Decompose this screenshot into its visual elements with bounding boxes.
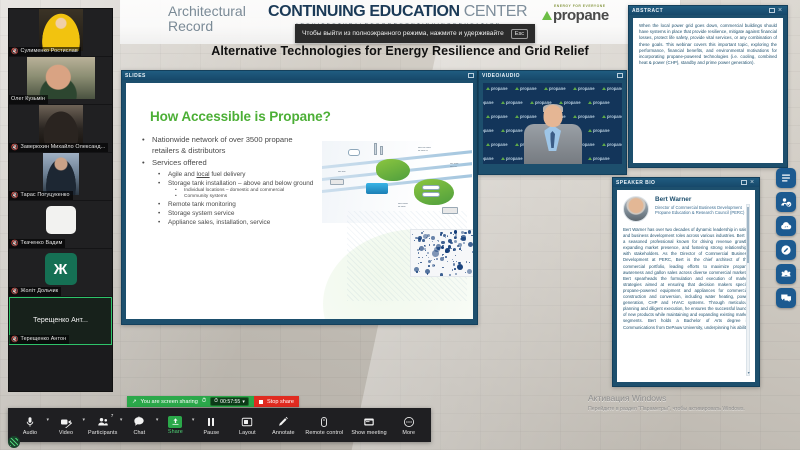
- camera-off-icon: [60, 415, 72, 429]
- map-dot: [422, 239, 425, 242]
- video-audio-window[interactable]: VIDEO/AUDIO propanepropanepropanepropane…: [478, 70, 627, 175]
- map-dot: [436, 258, 438, 260]
- maximize-icon[interactable]: [769, 8, 775, 13]
- backdrop-watermark: propane: [544, 86, 566, 91]
- map-dot: [448, 245, 451, 248]
- microphone-muted-icon: 🔇: [11, 145, 18, 151]
- map-dot: [460, 247, 461, 248]
- participants-icon: [97, 415, 109, 429]
- share-status-group: ↗ You are screen sharing ⏱ ⏱ 00:57:55 ▾: [127, 396, 254, 407]
- map-dot: [461, 231, 464, 234]
- participant-name-bar: 🔇Ткаченко Вадим: [9, 239, 65, 248]
- ellipsis-icon: [403, 415, 415, 429]
- participant-filmstrip[interactable]: 🔇Сулименко РостиславОлег Кузьмін🔇Заверюх…: [8, 8, 113, 392]
- map-dot: [464, 232, 467, 235]
- map-dot: [467, 269, 472, 274]
- participant-video: [39, 105, 83, 147]
- slide-bullet-text: Services offered: [152, 158, 207, 167]
- participant-video: [27, 57, 95, 99]
- map-dot: [431, 236, 435, 240]
- microphone-icon: [24, 415, 36, 429]
- backdrop-watermark: propane: [483, 100, 494, 105]
- meeting-control-more[interactable]: More: [391, 408, 427, 442]
- clock-icon: ⏱: [202, 398, 206, 405]
- abstract-window-title: ABSTRACT: [632, 8, 663, 14]
- map-dot: [442, 267, 444, 269]
- map-dot: [460, 238, 462, 240]
- map-dot: [418, 263, 419, 264]
- maximize-icon[interactable]: [741, 180, 747, 185]
- slide-bullet: •Storage tank installation – above and b…: [138, 179, 316, 188]
- activation-subtitle: Перейдите в раздел "Параметры", чтобы ак…: [588, 405, 793, 413]
- control-label: Annotate: [272, 430, 294, 436]
- meeting-control-participants[interactable]: Participants7▾: [84, 408, 121, 442]
- backdrop-watermark: propane: [486, 86, 508, 91]
- map-dot: [441, 241, 444, 244]
- map-dot: [432, 250, 439, 257]
- control-label: Audio: [23, 430, 37, 436]
- backdrop-watermark: propane: [602, 114, 622, 119]
- slide-bullet-text: Nationwide network of over 3500 propane …: [152, 135, 293, 155]
- participant-tile[interactable]: 🔇Заверюхин Михайло Олександ...: [9, 105, 112, 153]
- bio-window-title: SPEAKER BIO: [616, 180, 655, 186]
- video-window-title: VIDEO/AUDIO: [482, 73, 520, 79]
- participant-video: [39, 9, 83, 51]
- participant-name: Ткаченко Вадим: [20, 240, 62, 247]
- speaker-role: Director of Commercial Business Developm…: [655, 205, 744, 216]
- page-title: Alternative Technologies for Energy Resi…: [120, 44, 680, 58]
- abstract-body: When the local power grid goes down, com…: [633, 18, 783, 163]
- backdrop-watermark: propane: [602, 142, 622, 147]
- slide-heading: How Accessible is Propane?: [150, 109, 331, 124]
- sponsor-name: propane: [553, 7, 609, 24]
- map-dot: [465, 272, 466, 273]
- abstract-window[interactable]: ABSTRACT × When the local power grid goe…: [628, 5, 788, 168]
- slides-window-titlebar[interactable]: SLIDES: [122, 71, 477, 80]
- control-label: Layout: [239, 430, 256, 436]
- map-dot: [473, 237, 474, 238]
- close-icon[interactable]: ×: [778, 8, 784, 13]
- scroll-down-arrow[interactable]: ▼: [747, 371, 749, 375]
- map-dot: [466, 261, 467, 262]
- abstract-window-titlebar[interactable]: ABSTRACT ×: [629, 6, 787, 15]
- map-dot: [434, 259, 435, 260]
- backdrop-watermark: propane: [486, 114, 508, 119]
- control-label: More: [402, 430, 415, 436]
- map-dot: [420, 262, 422, 264]
- map-dot: [416, 271, 418, 273]
- map-dot: [447, 236, 448, 237]
- participant-tile[interactable]: 🔇Тарас Погуцукенко: [9, 153, 112, 201]
- participant-tile[interactable]: 🔇Сулименко Ростислав: [9, 9, 112, 57]
- map-dot: [457, 264, 463, 270]
- map-dot: [431, 260, 432, 261]
- pencil-icon: [277, 415, 289, 429]
- participant-name-bar: 🔇Тарас Погуцукенко: [9, 191, 73, 200]
- slide-bullet-list: •Nationwide network of over 3500 propane…: [138, 135, 316, 227]
- screen-share-indicator-dot[interactable]: [8, 436, 20, 448]
- control-label: Show meeting: [351, 430, 386, 436]
- speaker-figure: [522, 105, 584, 164]
- map-dot: [461, 250, 462, 251]
- slide-bullet: •Services offered: [138, 158, 316, 169]
- meeting-control-pause[interactable]: Pause: [193, 408, 229, 442]
- participant-video: [43, 153, 79, 195]
- slide-bullet-text: Appliance sales, installation, service: [168, 219, 270, 226]
- esc-key-hint: Esc: [511, 29, 528, 39]
- speaker-bio-text: Bert Warner has over two decades of dyna…: [623, 227, 749, 331]
- propane-sponsor-logo: ENERGY FOR EVERYONE propane: [542, 4, 609, 24]
- bio-header: Bert Warner Director of Commercial Busin…: [623, 196, 749, 222]
- backdrop-watermark: propane: [573, 86, 595, 91]
- bullet-icon: •: [142, 135, 145, 146]
- slide-bullet-text: Storage system service: [168, 210, 234, 217]
- slides-window-title: SLIDES: [125, 73, 146, 79]
- map-dot: [441, 246, 444, 249]
- participant-name: Сулименко Ростислав: [20, 48, 77, 55]
- map-dot: [427, 234, 430, 237]
- map-dot: [454, 240, 457, 243]
- map-dot: [472, 251, 473, 253]
- map-dot: [455, 255, 456, 256]
- map-dot: [422, 257, 423, 258]
- webinar-tool-rail[interactable]: [776, 168, 796, 308]
- video-window-titlebar[interactable]: VIDEO/AUDIO: [479, 71, 626, 80]
- map-dot: [453, 261, 454, 262]
- map-dot: [448, 239, 452, 243]
- map-dot: [423, 231, 424, 232]
- fullscreen-exit-toast: Чтобы выйти из полноэкранного режима, на…: [295, 24, 535, 43]
- slide-bullet-text: Agile and local fuel delivery: [168, 171, 245, 178]
- participant-tile[interactable]: Олег Кузьмін: [9, 57, 112, 105]
- participant-tile[interactable]: 🔇Ткаченко Вадим: [9, 201, 112, 249]
- control-label: Video: [59, 430, 73, 436]
- bullet-icon: •: [158, 170, 160, 179]
- map-dot: [428, 265, 430, 267]
- bio-body: Bert Warner Director of Commercial Busin…: [617, 190, 755, 382]
- map-dot: [425, 250, 426, 251]
- participant-tile[interactable]: Ж🔇Жоліт Дольчик: [9, 249, 112, 297]
- map-dot: [468, 230, 472, 234]
- participant-name: Заверюхин Михайло Олександ...: [20, 144, 105, 151]
- map-dot: [456, 261, 457, 262]
- share-arrow-icon: ↗: [132, 399, 137, 405]
- participant-name-bar: 🔇Жоліт Дольчик: [9, 287, 61, 296]
- map-dot: [440, 273, 444, 277]
- stop-share-label: Stop share: [267, 399, 294, 405]
- control-label: Chat: [133, 430, 145, 436]
- map-dot: [471, 235, 473, 237]
- participant-name-bar: 🔇Сулименко Ростислав: [9, 47, 81, 56]
- backdrop-watermark: propane: [588, 100, 610, 105]
- meeting-control-bar[interactable]: Audio▾Video▾Participants7▾Chat▾Share▾Pau…: [8, 408, 431, 442]
- participant-name: Олег Кузьмін: [11, 96, 45, 103]
- map-dot: [412, 234, 413, 235]
- participant-name-bar: Олег Кузьмін: [9, 95, 48, 104]
- share-status-text: You are screen sharing: [141, 399, 198, 405]
- stop-share-button[interactable]: Stop share: [254, 396, 299, 407]
- slide-bullet: •Appliance sales, installation, service: [138, 218, 316, 227]
- map-dot: [419, 246, 424, 251]
- map-dot: [454, 237, 456, 239]
- bullet-icon: •: [142, 158, 145, 169]
- participant-count-badge: 7: [111, 413, 113, 418]
- map-dot: [432, 241, 433, 242]
- map-dot: [452, 269, 454, 271]
- map-dot: [447, 235, 448, 236]
- map-dot: [449, 274, 452, 277]
- map-dot: [424, 248, 426, 250]
- share-screen-icon: [168, 416, 182, 428]
- microphone-muted-icon: 🔇: [11, 337, 18, 343]
- maximize-icon[interactable]: [617, 73, 623, 78]
- map-dot: [468, 242, 473, 247]
- map-dot: [445, 250, 447, 252]
- architectural-record-logo: Architectural Record: [168, 4, 246, 34]
- handouts-icon[interactable]: [776, 168, 796, 188]
- bullet-icon: •: [158, 200, 160, 209]
- map-dot: [445, 237, 447, 239]
- window-icon: [363, 415, 375, 429]
- control-label: Pause: [203, 430, 219, 436]
- chevron-down-icon[interactable]: ▾: [242, 399, 245, 405]
- microphone-muted-icon: 🔇: [11, 289, 18, 295]
- map-dot: [426, 255, 428, 257]
- map-dot: [453, 234, 454, 235]
- backdrop-watermark: propane: [588, 156, 610, 161]
- slides-window[interactable]: SLIDES How Accessible is Propane? •Natio…: [121, 70, 478, 325]
- bullet-icon: •: [158, 179, 160, 188]
- orlando-dot-map: [410, 229, 473, 277]
- map-dot: [418, 236, 422, 240]
- brand-line-2: Record: [168, 19, 246, 34]
- slide-bullet-text: Storage tank installation – above and be…: [168, 180, 313, 187]
- participant-name-bar: 🔇Заверюхин Михайло Олександ...: [9, 143, 108, 152]
- scrollbar-thumb[interactable]: [747, 207, 749, 263]
- backdrop-watermark: propane: [501, 128, 523, 133]
- speaker-name: Bert Warner: [655, 196, 744, 204]
- slide-bullet: •Storage system service: [138, 209, 316, 218]
- participant-name: Тарас Погуцукенко: [20, 192, 69, 199]
- activation-title: Активация Windows: [588, 393, 793, 404]
- map-dot: [428, 257, 429, 258]
- control-label: Remote control: [305, 430, 343, 436]
- qa-chat-icon[interactable]: [776, 288, 796, 308]
- microphone-muted-icon: 🔇: [11, 49, 18, 55]
- backdrop-watermark: propane: [483, 128, 494, 133]
- meeting-control-share[interactable]: Share▾: [157, 408, 193, 442]
- backdrop-watermark: propane: [483, 156, 494, 161]
- backdrop-watermark: propane: [515, 86, 537, 91]
- map-dot: [427, 252, 429, 254]
- map-dot: [453, 263, 455, 265]
- bullet-icon: •: [158, 209, 160, 218]
- map-dot: [433, 244, 435, 246]
- brand-line-1: Architectural: [168, 4, 246, 19]
- bullet-icon: •: [158, 218, 160, 227]
- map-dot: [452, 259, 453, 260]
- continuing-education-header: Architectural Record CONTINUING EDUCATIO…: [120, 0, 680, 68]
- backdrop-watermark: propane: [501, 100, 523, 105]
- control-label: Share: [168, 429, 183, 435]
- microphone-muted-icon: 🔇: [11, 241, 18, 247]
- upload-cloud-icon[interactable]: [776, 216, 796, 236]
- mouse-icon: [318, 415, 330, 429]
- poll-icon[interactable]: [776, 240, 796, 260]
- bio-window-titlebar[interactable]: SPEAKER BIO ×: [613, 178, 759, 187]
- map-dot: [419, 271, 420, 272]
- slide-bullet: •Agile and local fuel delivery: [138, 170, 316, 179]
- slide-canvas: How Accessible is Propane? •Nationwide n…: [126, 83, 473, 319]
- map-dot: [429, 244, 431, 246]
- meeting-control-show-meeting[interactable]: Show meeting: [347, 408, 390, 442]
- map-dot: [451, 248, 452, 249]
- slide-bullet-text: Individual locations – domestic and comm…: [184, 188, 284, 193]
- backdrop-watermark: propane: [602, 86, 622, 91]
- abstract-text: When the local power grid goes down, com…: [639, 23, 777, 66]
- propane-supply-chain-illustration: ▪▪▪▪▪ ▪▪▪▪ ▪▪▪▪▪▪▪▪▪ ▪▪▪▪▪▪ ▪▪ ▪▪▪▪ ▪▪▪▪…: [322, 141, 472, 223]
- map-dot: [439, 247, 440, 248]
- fullscreen-toast-message: Чтобы выйти из полноэкранного режима, на…: [302, 30, 504, 37]
- map-dot: [455, 273, 457, 275]
- speaker-bio-window[interactable]: SPEAKER BIO × Bert Warner Director of Co…: [612, 177, 760, 387]
- cec-wordmark: CONTINUING EDUCATION CENTER: [268, 3, 527, 21]
- participant-tile[interactable]: Терещенко Ант...🔇Терещенко Антон: [9, 297, 112, 345]
- desktop-screen: 🔇Сулименко РостиславОлег Кузьмін🔇Заверюх…: [0, 0, 800, 450]
- backdrop-watermark: propane: [486, 142, 508, 147]
- windows-activation-watermark: Активация Windows Перейдите в раздел "Па…: [588, 393, 793, 413]
- slide-bullet-text: Remote tank monitoring: [168, 201, 236, 208]
- avatar-initials: Ж: [45, 253, 77, 285]
- map-dot: [469, 262, 470, 263]
- flame-icon: [542, 11, 552, 20]
- avatar: [623, 196, 649, 222]
- stop-square-icon: [259, 400, 263, 404]
- share-timer-value: 00:57:55: [220, 399, 240, 405]
- map-dot: [421, 232, 423, 234]
- maximize-icon[interactable]: [468, 73, 474, 78]
- pause-icon: [205, 415, 217, 429]
- chat-icon: [133, 415, 145, 429]
- blank-video-placeholder: [46, 206, 76, 234]
- meeting-control-video[interactable]: Video▾: [48, 408, 84, 442]
- meeting-control-annotate[interactable]: Annotate: [265, 408, 301, 442]
- speaker-video-feed: propanepropanepropanepropanepropanepropa…: [483, 83, 622, 164]
- map-dot: [418, 252, 420, 254]
- slide-bullet: •Remote tank monitoring: [138, 200, 316, 209]
- bio-scrollbar[interactable]: ▼: [746, 204, 750, 376]
- meeting-control-remote-control[interactable]: Remote control: [301, 408, 347, 442]
- screen-share-bar[interactable]: ↗ You are screen sharing ⏱ ⏱ 00:57:55 ▾ …: [127, 396, 299, 407]
- map-dot: [418, 257, 419, 258]
- slide-bullet-text: Community systems: [184, 194, 227, 199]
- timer-icon: ⏱: [214, 398, 218, 405]
- map-dot: [414, 240, 415, 241]
- map-dot: [429, 238, 430, 239]
- group-chat-icon[interactable]: [776, 264, 796, 284]
- map-dot: [450, 232, 452, 234]
- meeting-control-layout[interactable]: Layout: [229, 408, 265, 442]
- map-dot: [447, 261, 448, 262]
- participant-name: Жоліт Дольчик: [20, 288, 58, 295]
- close-icon[interactable]: ×: [750, 180, 756, 185]
- map-dot: [442, 245, 443, 246]
- slide-bullet: •Nationwide network of over 3500 propane…: [138, 135, 316, 156]
- map-dot: [443, 257, 444, 258]
- map-dot: [445, 256, 447, 258]
- verify-user-icon[interactable]: [776, 192, 796, 212]
- control-label: Participants: [88, 430, 117, 436]
- participant-name: Терещенко Антон: [20, 336, 66, 343]
- layout-icon: [241, 415, 253, 429]
- meeting-control-chat[interactable]: Chat▾: [121, 408, 157, 442]
- backdrop-watermark: propane: [501, 156, 523, 161]
- map-dot: [454, 268, 456, 270]
- map-dot: [463, 242, 465, 244]
- participant-name-bar: 🔇Терещенко Антон: [9, 335, 69, 344]
- microphone-muted-icon: 🔇: [11, 193, 18, 199]
- backdrop-watermark: propane: [588, 128, 610, 133]
- share-timer[interactable]: ⏱ 00:57:55 ▾: [210, 397, 249, 406]
